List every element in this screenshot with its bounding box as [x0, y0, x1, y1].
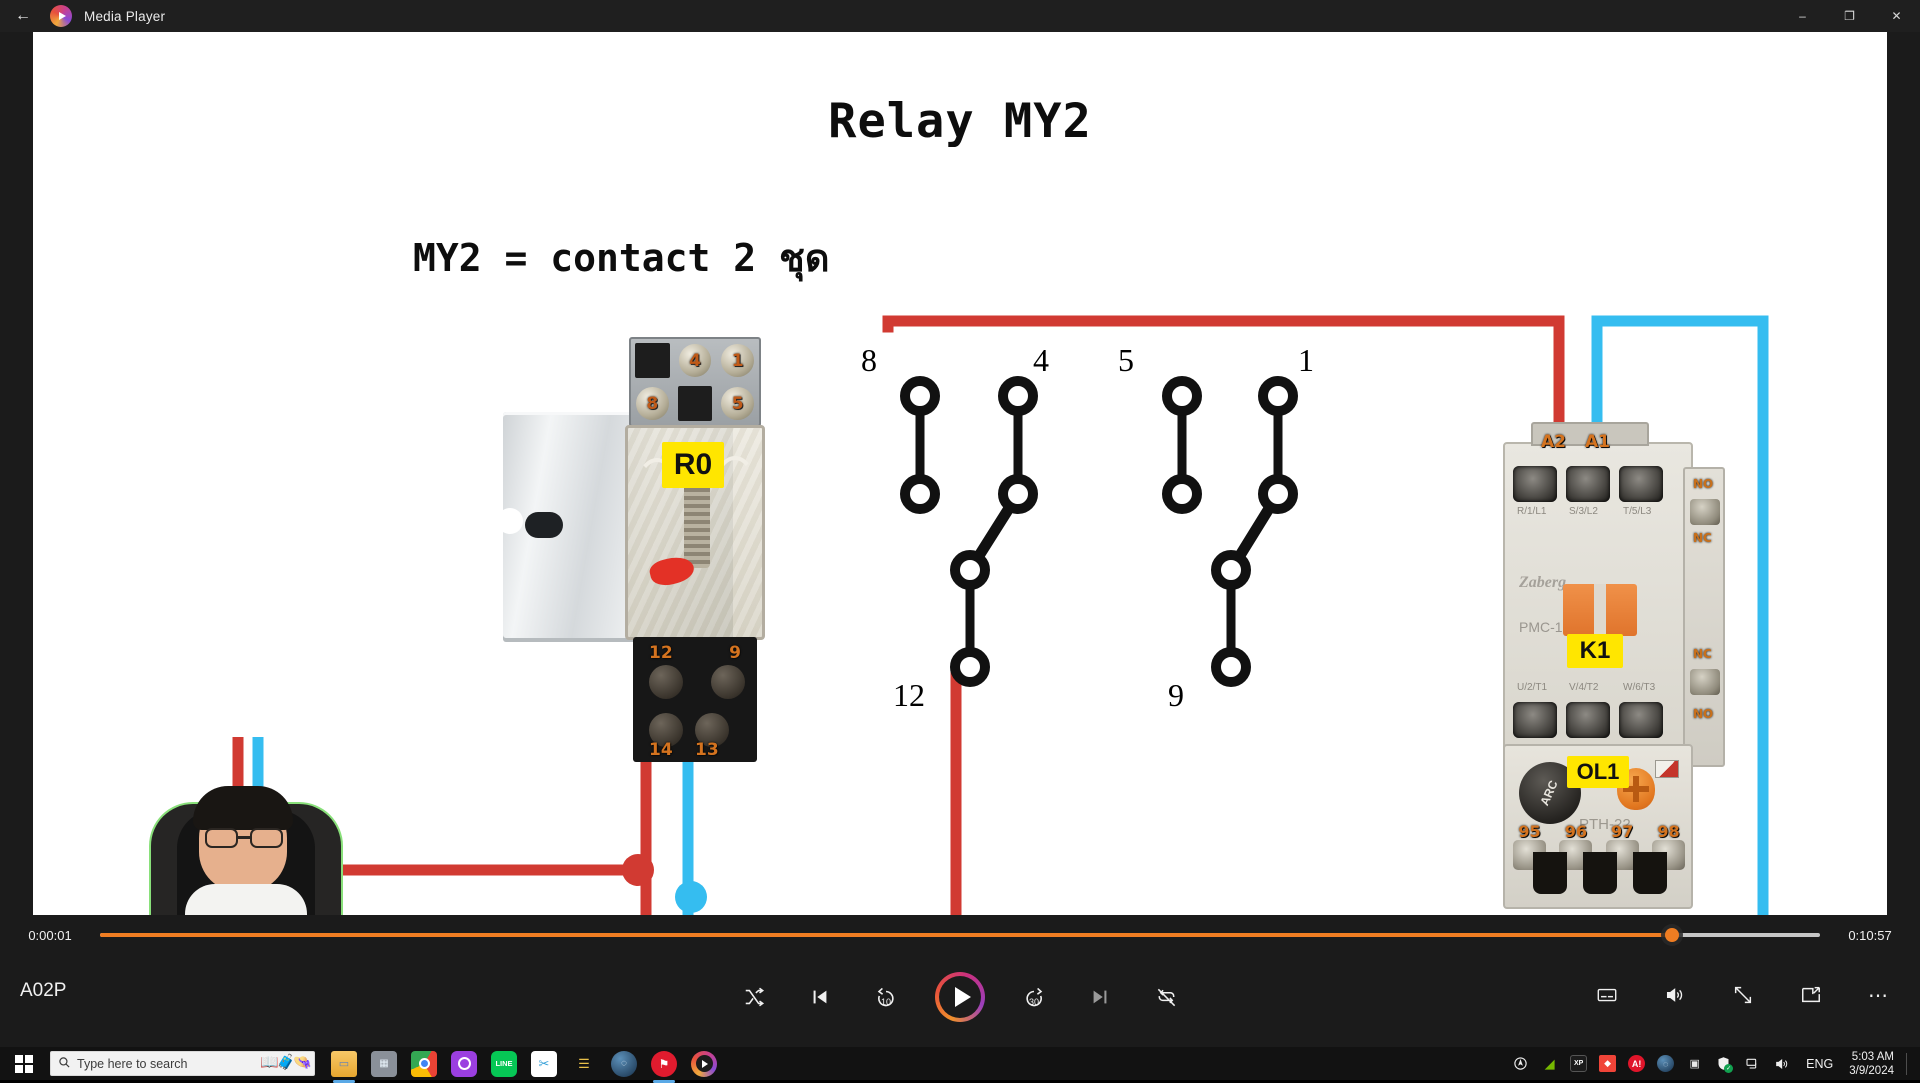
steam-icon[interactable]: ◌ — [1657, 1055, 1674, 1072]
forward-amount: 30 — [1029, 997, 1039, 1007]
contactor-actuator — [1563, 584, 1637, 636]
relay-bottom-terminals: 12 9 14 13 — [633, 637, 757, 762]
relay-terminal-4: 4 — [679, 344, 712, 377]
contactor-label-t3: W/6/T3 — [1623, 682, 1655, 693]
overload-leg-3 — [1633, 852, 1667, 894]
contact-label-5: 5 — [1118, 342, 1134, 379]
avatar-hair — [193, 786, 293, 830]
duration-label: 0:10:57 — [1820, 928, 1920, 943]
overload-leg-2 — [1583, 852, 1617, 894]
search-decoration-icons: 📖🧳👒 — [260, 1053, 310, 1071]
contactor-terminal-a2: A2 — [1541, 432, 1566, 452]
clock[interactable]: 5:03 AM 3/9/2024 — [1849, 1050, 1894, 1078]
contactor-screw-t2 — [1566, 702, 1610, 738]
contactor-screw-l1 — [1513, 466, 1557, 502]
seek-progress-fill — [100, 933, 1672, 937]
xp-pen-icon[interactable]: XP — [1570, 1055, 1587, 1072]
contactor-label-l2: S/3/L2 — [1569, 506, 1598, 517]
contactor-line-terminals — [1513, 466, 1663, 502]
aux-label-nc-2: NC — [1693, 647, 1712, 661]
contactor-load-terminals — [1513, 702, 1663, 738]
volume-icon[interactable] — [1658, 978, 1692, 1012]
aux-screw-1 — [1690, 499, 1720, 525]
taskbar-purple-app[interactable] — [451, 1051, 477, 1077]
video-surface[interactable]: Relay MY2 MY2 = contact 2 ชุด — [33, 32, 1887, 915]
notification-center-button[interactable] — [1906, 1053, 1910, 1075]
volume-tray-icon[interactable] — [1773, 1055, 1790, 1072]
contact-label-9: 9 — [1168, 677, 1184, 714]
taskbar-media-player[interactable] — [691, 1051, 717, 1077]
taskbar-google-chrome[interactable] — [411, 1051, 437, 1077]
contactor-screw-l3 — [1619, 466, 1663, 502]
relay-cap-left — [635, 343, 670, 378]
next-track-icon[interactable] — [1083, 980, 1117, 1014]
contactor-k1-photo: R/1/L1 S/3/L2 T/5/L3 Zaberg PMC-12 K1 U/… — [1503, 442, 1693, 777]
window-title: Media Player — [84, 9, 165, 24]
contactor-screw-l2 — [1566, 466, 1610, 502]
player-right-controls: ⋯ — [1590, 978, 1896, 1012]
taskbar-steam[interactable]: ◌ — [611, 1051, 637, 1077]
language-indicator[interactable]: ENG — [1806, 1057, 1833, 1071]
overload-dial-label: ARC — [1537, 778, 1560, 807]
media-player-icon — [50, 5, 72, 27]
previous-track-icon[interactable] — [803, 980, 837, 1014]
a-alert-icon[interactable]: A! — [1628, 1055, 1645, 1072]
clock-time: 5:03 AM — [1849, 1050, 1894, 1064]
contactor-aux-contact-block: NO NC NC NO — [1683, 467, 1725, 767]
fullscreen-icon[interactable] — [1726, 978, 1760, 1012]
seek-thumb[interactable] — [1665, 928, 1679, 942]
window-controls: – ❐ ✕ — [1779, 0, 1920, 32]
relay-top-terminals: 4 1 8 5 — [629, 337, 761, 427]
overload-tag-ol1: OL1 — [1567, 756, 1629, 788]
taskbar-cake-3d[interactable]: ☰ — [571, 1051, 597, 1077]
relay-transparent-body: R0 — [625, 425, 765, 640]
relay-terminal-13: 13 — [695, 740, 719, 760]
avatar-glasses — [203, 828, 285, 850]
relay-terminal-8: 8 — [636, 387, 669, 420]
repeat-off-icon[interactable] — [1149, 980, 1183, 1014]
relay-terminal-5: 5 — [721, 387, 754, 420]
overload-terminal-96: 96 — [1559, 822, 1592, 841]
contactor-label-l1: R/1/L1 — [1517, 506, 1546, 517]
relay-cap-center — [678, 386, 713, 421]
search-placeholder: Type here to search — [77, 1057, 187, 1071]
windows-taskbar: Type here to search 📖🧳👒 ▭ ▦ LINE ✂ ☰ ◌ ⚑ — [0, 1047, 1920, 1080]
relay-tag-r0: R0 — [662, 442, 724, 488]
avatar-shirt — [185, 884, 307, 915]
contactor-screw-t3 — [1619, 702, 1663, 738]
media-title-label: A02P — [20, 980, 66, 1002]
minimize-button[interactable]: – — [1779, 0, 1826, 32]
overload-terminal-95: 95 — [1513, 822, 1546, 841]
overload-terminal-98: 98 — [1652, 822, 1685, 841]
relay-screw-9 — [711, 665, 745, 699]
relay-terminal-12: 12 — [649, 643, 673, 663]
rewind-10-icon[interactable]: 10 — [869, 980, 903, 1014]
system-tray: ◢ XP ◆ A! ◌ ▣ ✓ ENG 5:03 AM 3/9/2024 — [1512, 1050, 1920, 1078]
maximize-button[interactable]: ❐ — [1826, 0, 1873, 32]
contactor-terminal-a1: A1 — [1585, 432, 1610, 452]
media-player-window: ← Media Player – ❐ ✕ Relay MY2 MY2 = con… — [0, 0, 1920, 1047]
mini-player-icon[interactable] — [1794, 978, 1828, 1012]
contactor-label-t1: U/2/T1 — [1517, 682, 1547, 693]
play-button[interactable] — [935, 972, 985, 1022]
slide-content: Relay MY2 MY2 = contact 2 ชุด — [33, 32, 1887, 915]
taskbar-line-messenger[interactable]: LINE — [491, 1051, 517, 1077]
clock-date: 3/9/2024 — [1849, 1064, 1894, 1078]
contactor-label-t2: V/4/T2 — [1569, 682, 1598, 693]
taskbar-calculator[interactable]: ▦ — [371, 1051, 397, 1077]
aux-screw-2 — [1690, 669, 1720, 695]
taskbar-red-app[interactable]: ⚑ — [651, 1051, 677, 1077]
shuffle-icon[interactable] — [737, 980, 771, 1014]
contact-label-12: 12 — [893, 677, 925, 714]
contact-label-8: 8 — [861, 342, 877, 379]
aux-label-no-1: NO — [1693, 477, 1713, 491]
nvidia-icon[interactable]: ◢ — [1541, 1055, 1558, 1072]
captions-icon[interactable] — [1590, 978, 1624, 1012]
screen-recorder-icon[interactable]: ▣ — [1686, 1055, 1703, 1072]
aux-label-nc-1: NC — [1693, 531, 1712, 545]
windows-start-icon[interactable] — [0, 1047, 48, 1080]
relay-terminal-9: 9 — [729, 643, 741, 663]
overload-leg-1 — [1533, 852, 1567, 894]
search-icon — [51, 1056, 77, 1072]
seek-slider[interactable] — [100, 933, 1820, 937]
location-icon[interactable] — [1512, 1055, 1529, 1072]
overload-trip-indicator — [1655, 760, 1679, 778]
aux-label-no-2: NO — [1693, 707, 1713, 721]
taskbar-app-buttons: ▭ ▦ LINE ✂ ☰ ◌ ⚑ — [331, 1051, 717, 1077]
window-titlebar: ← Media Player – ❐ ✕ — [0, 0, 1920, 32]
relay-terminal-1: 1 — [721, 344, 754, 377]
presenter-avatar — [151, 772, 341, 915]
relay-terminal-14: 14 — [649, 740, 673, 760]
network-icon[interactable] — [1744, 1055, 1761, 1072]
contactor-label-l3: T/5/L3 — [1623, 506, 1651, 517]
relay-my2-photo: 4 1 8 5 R0 12 — [625, 337, 765, 762]
taskbar-file-explorer[interactable]: ▭ — [331, 1051, 357, 1077]
player-control-bar: A02P 10 — [0, 950, 1920, 1047]
overload-contact-legs — [1525, 852, 1675, 894]
contact-label-4: 4 — [1033, 342, 1049, 379]
forward-30-icon[interactable]: 30 — [1017, 980, 1051, 1014]
relay-screw-12 — [649, 665, 683, 699]
back-arrow-icon[interactable]: ← — [0, 0, 46, 32]
contact-label-1: 1 — [1298, 342, 1314, 379]
contactor-tag-k1: K1 — [1567, 634, 1623, 668]
search-input[interactable]: Type here to search 📖🧳👒 — [50, 1051, 315, 1076]
windows-security-icon[interactable]: ✓ — [1715, 1055, 1732, 1072]
red-diamond-icon[interactable]: ◆ — [1599, 1055, 1616, 1072]
overload-terminal-97: 97 — [1606, 822, 1639, 841]
seek-bar-row: 0:00:01 0:10:57 — [0, 920, 1920, 950]
overload-terminal-numbers: 95 96 97 98 — [1513, 822, 1685, 841]
more-options-icon[interactable]: ⋯ — [1862, 978, 1896, 1012]
rewind-amount: 10 — [881, 997, 891, 1007]
contactor-brand: Zaberg — [1519, 574, 1566, 592]
close-button[interactable]: ✕ — [1873, 0, 1920, 32]
playback-controls: 10 30 — [737, 972, 1183, 1022]
taskbar-snipping-tool[interactable]: ✂ — [531, 1051, 557, 1077]
current-time-label: 0:00:01 — [0, 928, 100, 943]
contactor-screw-t1 — [1513, 702, 1557, 738]
